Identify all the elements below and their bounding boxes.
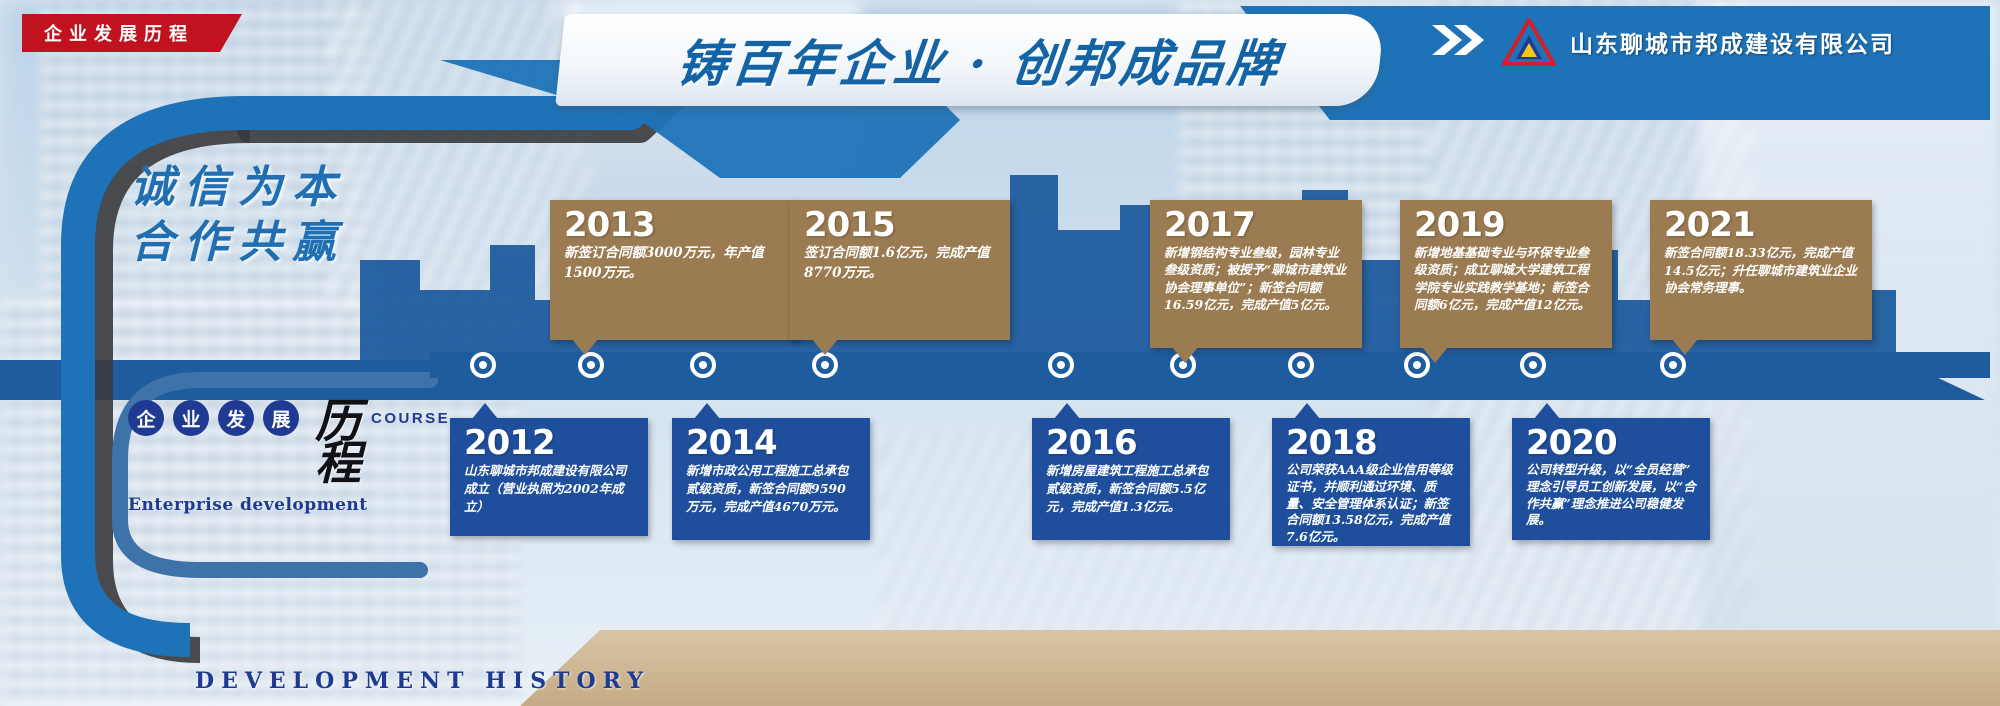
milestone-card-2014[interactable]: 2014 新增市政公用工程施工总承包贰级资质，新签合同额9590万元，完成产值4… — [672, 418, 870, 540]
badge-brush-char-2: 程 — [315, 442, 361, 484]
milestone-text-2020: 公司转型升级，以“全员经营”理念引导员工创新发展，以“合作共赢”理念推进公司稳健… — [1526, 462, 1698, 529]
milestone-year-2020: 2020 — [1526, 426, 1698, 460]
milestone-text-2018: 公司荣获AAA级企业信用等级证书，并顺利通过环境、质量、安全管理体系认证；新签合… — [1286, 462, 1458, 546]
triangle-logo-icon — [1502, 18, 1556, 66]
development-history-poster: 企业发展历程 铸百年企业 · 创邦成品牌 山东聊城市邦成建设有限公司 诚信为本 … — [0, 0, 2000, 706]
slogan-line-1: 诚信为本 — [130, 160, 346, 215]
timeline-node-2015[interactable] — [812, 352, 838, 378]
timeline-node-2021[interactable] — [1660, 352, 1686, 378]
milestone-year-2015: 2015 — [804, 208, 998, 242]
badge-course-label: COURSE — [371, 410, 450, 427]
ribbon-label: 企业发展历程 — [44, 20, 194, 46]
timeline-node-2012[interactable] — [470, 352, 496, 378]
timeline-node-2016[interactable] — [1048, 352, 1074, 378]
badge-pill-1: 企 — [128, 400, 164, 436]
badge-pill-2: 业 — [173, 400, 209, 436]
milestone-card-2015[interactable]: 2015 签订合同额1.6亿元，完成产值8770万元。 — [790, 200, 1010, 340]
milestone-text-2019: 新增地基基础专业与环保专业叁级资质；成立聊城大学建筑工程学院专业实践教学基地；新… — [1414, 244, 1600, 313]
badge-pill-group: 企 业 发 展 — [128, 400, 299, 436]
milestone-year-2017: 2017 — [1164, 208, 1350, 242]
milestone-text-2012: 山东聊城市邦成建设有限公司成立（营业执照为2002年成立） — [464, 462, 636, 516]
milestone-text-2013: 新签订合同额3000万元，年产值1500万元。 — [564, 244, 786, 283]
milestone-year-2014: 2014 — [686, 426, 858, 460]
milestone-text-2015: 签订合同额1.6亿元，完成产值8770万元。 — [804, 244, 998, 283]
milestone-text-2016: 新增房屋建筑工程施工总承包贰级资质，新签合同额5.5亿元，完成产值1.3亿元。 — [1046, 462, 1218, 516]
badge-brush-characters: 历 程 — [315, 400, 361, 485]
timeline-node-2018[interactable] — [1288, 352, 1314, 378]
badge-pill-4: 展 — [263, 400, 299, 436]
footer-caption: DEVELOPMENT HISTORY — [195, 668, 650, 694]
milestone-text-2014: 新增市政公用工程施工总承包贰级资质，新签合同额9590万元，完成产值4670万元… — [686, 462, 858, 516]
main-title: 铸百年企业 · 创邦成品牌 — [595, 16, 1364, 104]
milestone-year-2016: 2016 — [1046, 426, 1218, 460]
slogan: 诚信为本 合作共赢 — [130, 160, 346, 270]
milestone-card-2021[interactable]: 2021 新签合同额18.33亿元，完成产值14.5亿元；升任聊城市建筑业企业协… — [1650, 200, 1872, 340]
milestone-text-2017: 新增钢结构专业叁级，园林专业叁级资质；被授予“聊城市建筑业协会理事单位”；新签合… — [1164, 244, 1350, 313]
milestone-card-2013[interactable]: 2013 新签订合同额3000万元，年产值1500万元。 — [550, 200, 798, 340]
company-name: 山东聊城市邦成建设有限公司 — [1570, 25, 1895, 59]
timeline-node-2013[interactable] — [578, 352, 604, 378]
milestone-card-2017[interactable]: 2017 新增钢结构专业叁级，园林专业叁级资质；被授予“聊城市建筑业协会理事单位… — [1150, 200, 1362, 348]
milestone-card-2016[interactable]: 2016 新增房屋建筑工程施工总承包贰级资质，新签合同额5.5亿元，完成产值1.… — [1032, 418, 1230, 540]
enterprise-development-badge: 企 业 发 展 历 程 COURSE Enterprise developmen… — [128, 400, 450, 515]
milestone-year-2013: 2013 — [564, 208, 786, 242]
milestone-year-2021: 2021 — [1664, 208, 1860, 242]
milestone-year-2018: 2018 — [1286, 426, 1458, 460]
badge-english-label: Enterprise development — [128, 495, 450, 515]
timeline-node-2020[interactable] — [1520, 352, 1546, 378]
milestone-card-2012[interactable]: 2012 山东聊城市邦成建设有限公司成立（营业执照为2002年成立） — [450, 418, 648, 536]
milestone-card-2018[interactable]: 2018 公司荣获AAA级企业信用等级证书，并顺利通过环境、质量、安全管理体系认… — [1272, 418, 1470, 546]
company-identity: 山东聊城市邦成建设有限公司 — [1430, 18, 1895, 66]
milestone-text-2021: 新签合同额18.33亿元，完成产值14.5亿元；升任聊城市建筑业企业协会常务理事… — [1664, 244, 1860, 297]
ribbon-banner: 企业发展历程 — [22, 14, 242, 52]
bottom-tan-stripe — [520, 630, 2000, 706]
milestone-year-2012: 2012 — [464, 426, 636, 460]
milestone-card-2020[interactable]: 2020 公司转型升级，以“全员经营”理念引导员工创新发展，以“合作共赢”理念推… — [1512, 418, 1710, 540]
slogan-line-2: 合作共赢 — [130, 215, 346, 270]
double-chevron-right-icon — [1430, 23, 1488, 62]
milestone-card-2019[interactable]: 2019 新增地基基础专业与环保专业叁级资质；成立聊城大学建筑工程学院专业实践教… — [1400, 200, 1612, 348]
badge-pill-3: 发 — [218, 400, 254, 436]
milestone-year-2019: 2019 — [1414, 208, 1600, 242]
timeline-node-2014[interactable] — [690, 352, 716, 378]
timeline-track — [430, 352, 1990, 378]
